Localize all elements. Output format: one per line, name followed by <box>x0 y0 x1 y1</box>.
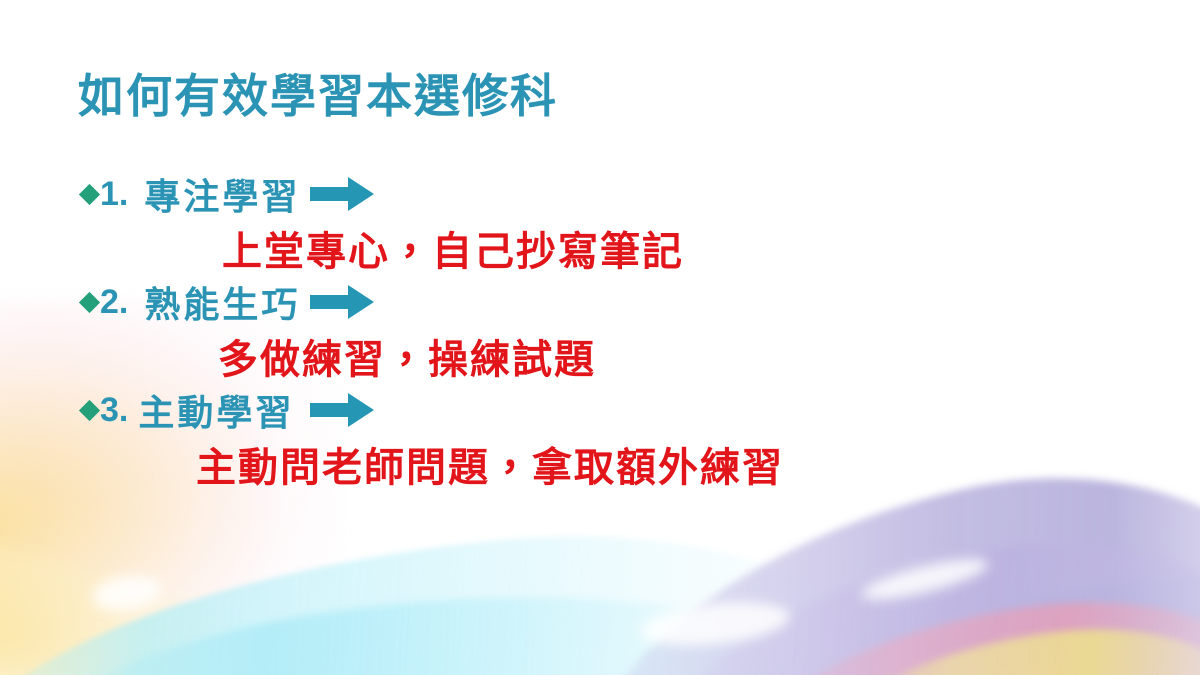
diamond-bullet-icon <box>79 399 100 420</box>
bullet-detail-1: 上堂專心，自己抄寫筆記 <box>0 220 1200 276</box>
yellow-brush-stroke-bottom-right <box>816 607 1200 675</box>
right-arrow-icon <box>310 177 374 211</box>
right-arrow-icon <box>310 393 374 427</box>
highlight-wisp <box>859 551 991 608</box>
bullet-number-2: 2. <box>100 283 128 322</box>
highlight-wisp <box>90 571 164 614</box>
slide-title: 如何有效學習本選修科 <box>78 72 558 123</box>
bullet-heading-2: 熟能生巧 <box>144 276 300 328</box>
detail-text-2: 多做練習，操練試題 <box>218 327 596 385</box>
bullet-heading-1: 專注學習 <box>144 168 300 220</box>
detail-text-3: 主動問老師問題，拿取額外練習 <box>196 435 784 493</box>
bullet-item-3: 3. 主動學習 <box>0 384 1200 436</box>
yellow-watercolor-wash-bottom-left <box>0 512 260 675</box>
bullet-detail-2: 多做練習，操練試題 <box>0 328 1200 384</box>
bullet-item-1: 1. 專注學習 <box>0 168 1200 220</box>
detail-text-1: 上堂專心，自己抄寫筆記 <box>222 219 684 277</box>
bullet-item-2: 2. 熟能生巧 <box>0 276 1200 328</box>
teal-brush-stroke-bottom-right <box>926 560 1200 675</box>
bullet-detail-3: 主動問老師問題，拿取額外練習 <box>0 436 1200 492</box>
right-arrow-icon <box>310 285 374 319</box>
pink-brush-stroke-bottom-right <box>735 572 1200 675</box>
cyan-brush-stroke-secondary <box>37 576 863 675</box>
cyan-brush-stroke <box>0 505 907 675</box>
presentation-slide: 如何有效學習本選修科 1. 專注學習 上堂專心，自己抄寫筆記 <box>0 0 1200 675</box>
bullet-list: 1. 專注學習 上堂專心，自己抄寫筆記 2. 熟能生巧 <box>0 168 1200 492</box>
bullet-number-1: 1. <box>100 175 128 214</box>
bullet-heading-3: 主動學習 <box>138 384 294 436</box>
bullet-number-3: 3. <box>100 391 128 430</box>
diamond-bullet-icon <box>79 291 100 312</box>
diamond-bullet-icon <box>79 183 100 204</box>
highlight-wisp <box>638 596 791 651</box>
purple-brush-stroke-secondary <box>630 502 1200 675</box>
